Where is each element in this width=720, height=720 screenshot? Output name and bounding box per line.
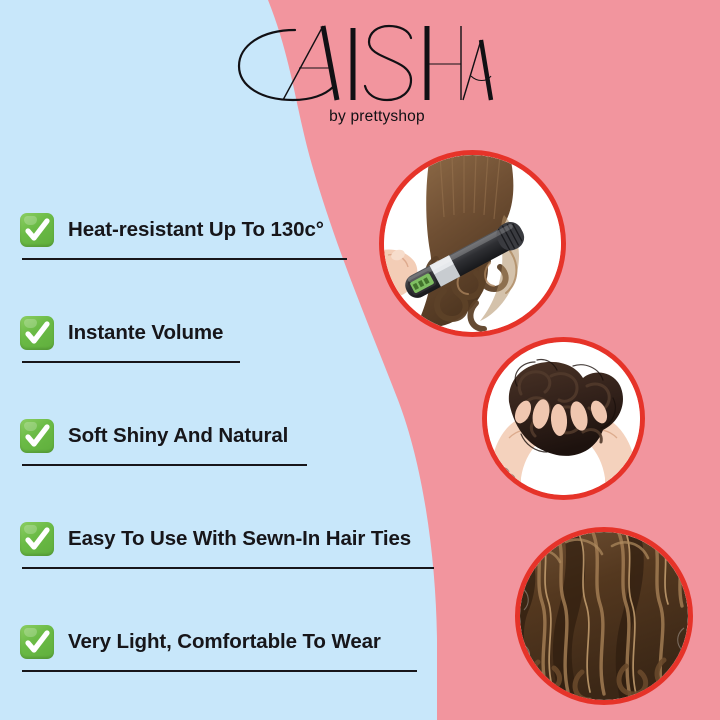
feature-underline [22, 258, 347, 260]
green-check-box-icon [20, 522, 54, 556]
green-check-box-icon [20, 625, 54, 659]
brand-logo: by prettyshop [0, 18, 720, 126]
photo-hair-texture [515, 527, 693, 705]
feature-underline [22, 464, 307, 466]
green-check-box-icon [20, 419, 54, 453]
green-check-box-icon [20, 213, 54, 247]
feature-list: Heat-resistant Up To 130c° Instante Volu… [20, 206, 411, 672]
feature-item: Very Light, Comfortable To Wear [20, 618, 411, 672]
photo-hands-scrunchie [482, 337, 645, 500]
feature-item: Soft Shiny And Natural [20, 412, 411, 466]
feature-underline [22, 670, 417, 672]
feature-label: Very Light, Comfortable To Wear [68, 632, 381, 653]
feature-underline [22, 567, 434, 569]
green-check-box-icon [20, 316, 54, 350]
feature-item: Heat-resistant Up To 130c° [20, 206, 411, 260]
feature-label: Heat-resistant Up To 130c° [68, 220, 324, 241]
feature-underline [22, 361, 240, 363]
feature-label: Instante Volume [68, 323, 223, 344]
brand-wordmark [225, 18, 495, 104]
brand-tagline: by prettyshop [0, 108, 720, 126]
feature-label: Soft Shiny And Natural [68, 426, 288, 447]
feature-item: Instante Volume [20, 309, 411, 363]
feature-item: Easy To Use With Sewn-In Hair Ties [20, 515, 411, 569]
product-infographic: by prettyshop Heat-resistant Up To 130c°… [0, 0, 720, 720]
feature-label: Easy To Use With Sewn-In Hair Ties [68, 529, 411, 550]
